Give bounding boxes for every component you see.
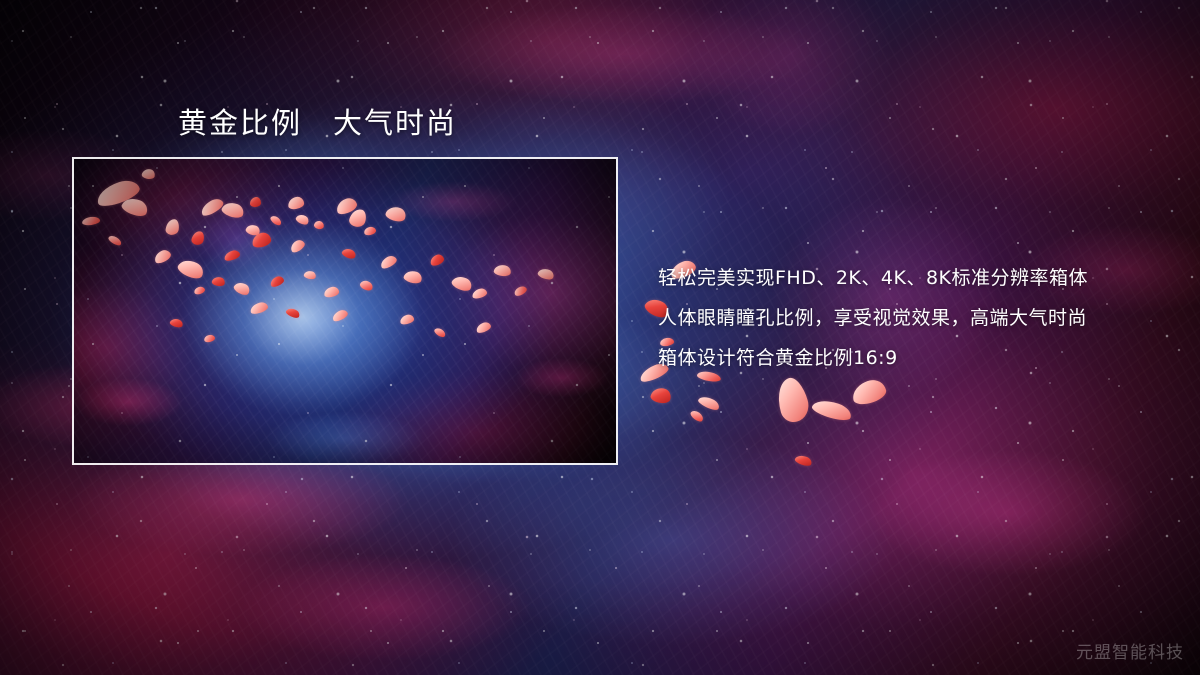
watermark: 元盟智能科技 <box>1076 638 1184 663</box>
petal <box>697 394 721 413</box>
petal <box>794 453 813 467</box>
petal <box>811 396 854 424</box>
petal <box>772 375 812 425</box>
slide-title: 黄金比例 大气时尚 <box>178 100 457 142</box>
photo-frame <box>72 157 618 465</box>
description-text-block: 轻松完美实现FHD、2K、4K、8K标准分辨率箱体 人体眼睛瞳孔比例，享受视觉效… <box>658 258 1158 378</box>
photo-vignette <box>74 159 616 463</box>
description-line-3: 箱体设计符合黄金比例16:9 <box>658 338 1158 378</box>
petal <box>689 409 705 424</box>
description-line-2: 人体眼睛瞳孔比例，享受视觉效果，高端大气时尚 <box>658 298 1158 338</box>
petal <box>850 377 888 407</box>
petal <box>649 386 672 405</box>
description-line-1: 轻松完美实现FHD、2K、4K、8K标准分辨率箱体 <box>658 258 1158 298</box>
slide-canvas: 黄金比例 大气时尚 轻松完美实现FHD、2K、4K、8K标准分辨率箱体 人体眼睛… <box>0 0 1200 675</box>
photo-image <box>74 159 616 463</box>
